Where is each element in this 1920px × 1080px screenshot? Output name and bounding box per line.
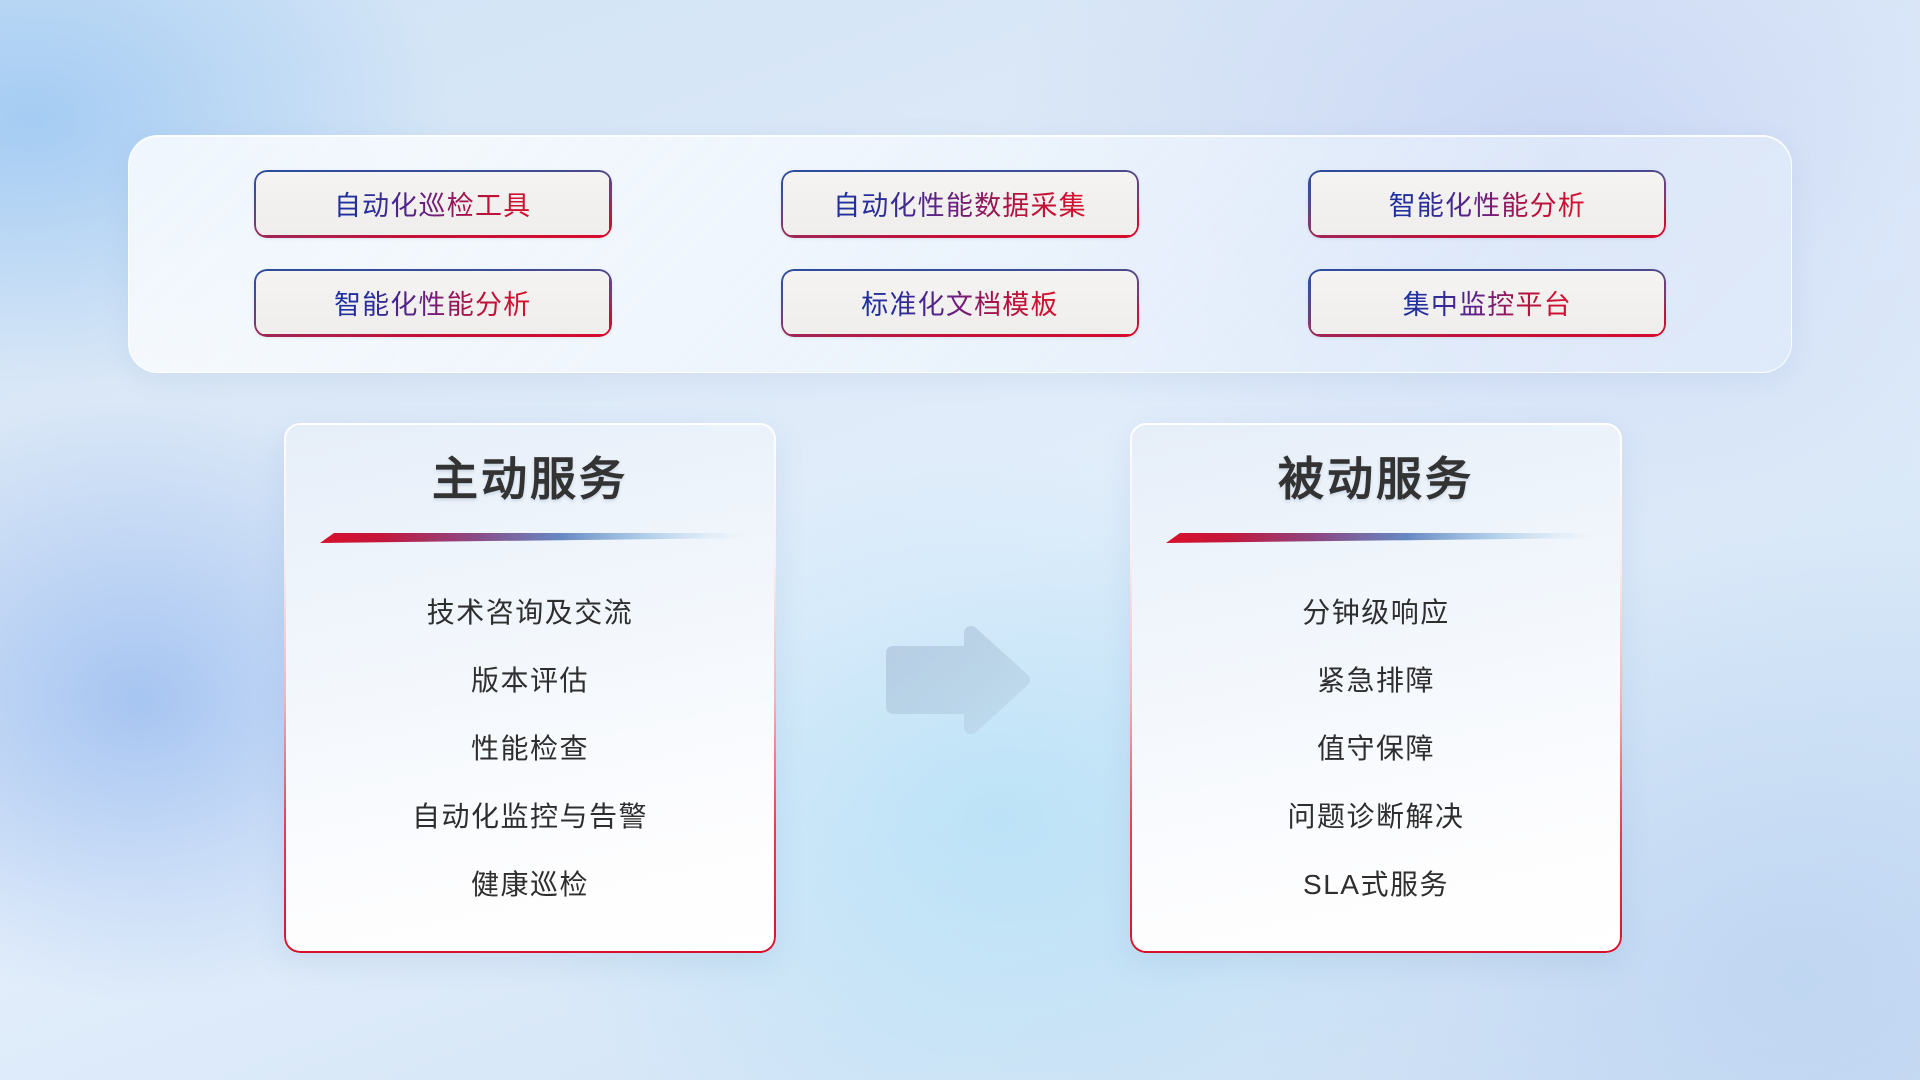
capability-chip[interactable]: 自动化巡检工具	[254, 170, 612, 238]
capability-chip-grid: 自动化巡检工具 自动化性能数据采集 智能化性能分析 智能化性能分析 标准化文档模…	[129, 136, 1791, 372]
service-item[interactable]: 值守保障	[1160, 713, 1592, 781]
gradient-divider-icon	[1166, 531, 1596, 545]
slide-canvas: 自动化巡检工具 自动化性能数据采集 智能化性能分析 智能化性能分析 标准化文档模…	[0, 0, 1920, 1080]
capability-chip[interactable]: 标准化文档模板	[781, 269, 1139, 337]
service-item-list: 分钟级响应 紧急排障 值守保障 问题诊断解决 SLA式服务	[1160, 577, 1592, 917]
service-item[interactable]: 健康巡检	[314, 849, 746, 917]
service-card-inner: 被动服务	[1130, 423, 1622, 953]
title-divider-wrap	[1160, 531, 1592, 549]
gradient-divider-icon	[320, 531, 750, 545]
capability-chip[interactable]: 集中监控平台	[1308, 269, 1666, 337]
capability-chip-label: 标准化文档模板	[861, 283, 1058, 322]
title-divider-wrap	[314, 531, 746, 549]
right-arrow-icon	[878, 621, 1038, 739]
service-item-list: 技术咨询及交流 版本评估 性能检查 自动化监控与告警 健康巡检	[314, 577, 746, 917]
service-item[interactable]: 问题诊断解决	[1160, 781, 1592, 849]
capability-chip-label: 智能化性能分析	[1389, 184, 1586, 223]
capability-panel: 自动化巡检工具 自动化性能数据采集 智能化性能分析 智能化性能分析 标准化文档模…	[128, 135, 1792, 373]
service-item[interactable]: 版本评估	[314, 645, 746, 713]
service-item[interactable]: 技术咨询及交流	[314, 577, 746, 645]
capability-chip[interactable]: 自动化性能数据采集	[781, 170, 1139, 238]
capability-chip-label: 自动化性能数据采集	[833, 184, 1087, 223]
capability-chip[interactable]: 智能化性能分析	[254, 269, 612, 337]
service-card-title: 被动服务	[1160, 451, 1592, 509]
service-item[interactable]: 自动化监控与告警	[314, 781, 746, 849]
service-card-title: 主动服务	[314, 451, 746, 509]
capability-chip-label: 智能化性能分析	[334, 283, 531, 322]
service-item[interactable]: 分钟级响应	[1160, 577, 1592, 645]
service-item[interactable]: 紧急排障	[1160, 645, 1592, 713]
service-card-inner: 主动服务	[284, 423, 776, 953]
capability-chip-label: 自动化巡检工具	[334, 184, 531, 223]
service-card-active[interactable]: 主动服务	[284, 423, 776, 953]
service-card-passive[interactable]: 被动服务	[1130, 423, 1622, 953]
service-item[interactable]: SLA式服务	[1160, 849, 1592, 917]
capability-chip-label: 集中监控平台	[1403, 283, 1572, 322]
capability-chip[interactable]: 智能化性能分析	[1308, 170, 1666, 238]
service-item[interactable]: 性能检查	[314, 713, 746, 781]
